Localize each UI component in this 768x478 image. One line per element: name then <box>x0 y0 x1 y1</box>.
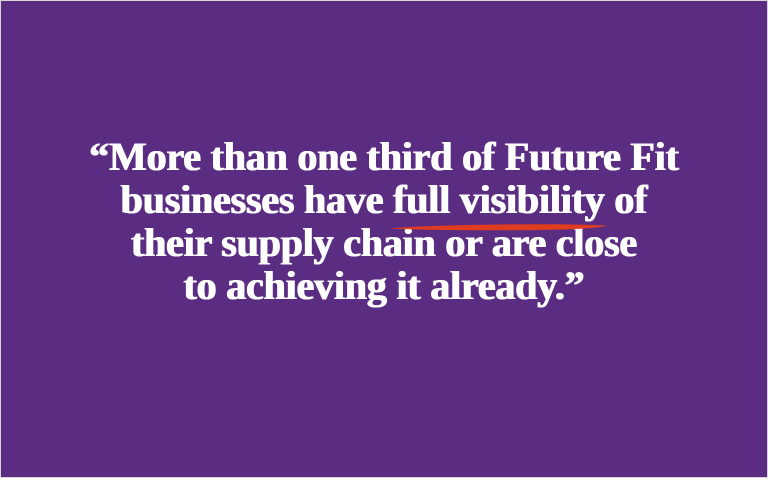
quote-line-2-suffix: of <box>605 177 648 222</box>
highlighted-phrase-text: full visibility <box>393 177 605 222</box>
quote-line-3: their supply chain or are close <box>41 221 727 264</box>
quote-line-2: businesses have full visibility of <box>41 178 727 221</box>
quote-card: “More than one third of Future Fit busin… <box>0 0 768 478</box>
quote-line-4: to achieving it already.” <box>41 264 727 307</box>
pull-quote: “More than one third of Future Fit busin… <box>41 135 727 307</box>
quote-line-1: “More than one third of Future Fit <box>41 135 727 178</box>
highlighted-phrase: full visibility <box>393 178 605 221</box>
quote-line-2-prefix: businesses have <box>121 177 393 222</box>
